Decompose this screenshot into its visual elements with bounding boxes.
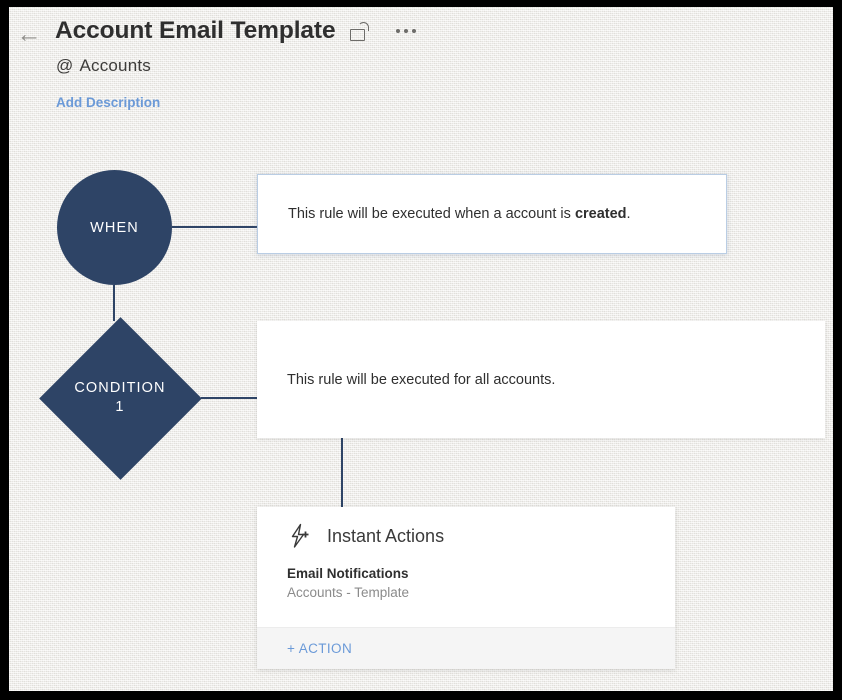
action-item-detail: Accounts - Template bbox=[287, 585, 645, 600]
instant-actions-bolt-icon bbox=[287, 523, 313, 549]
connector-condition-to-card bbox=[201, 397, 258, 399]
add-action-button[interactable]: + ACTION bbox=[287, 641, 352, 656]
when-text-prefix: This rule will be executed when a accoun… bbox=[288, 206, 575, 222]
connector-when-to-card bbox=[172, 226, 258, 228]
instant-actions-title: Instant Actions bbox=[327, 526, 444, 547]
list-item[interactable]: Email Notifications Accounts - Template bbox=[287, 566, 645, 600]
when-text-suffix: . bbox=[627, 206, 631, 222]
when-node[interactable]: WHEN bbox=[57, 170, 172, 285]
condition-criteria-card[interactable]: This rule will be executed for all accou… bbox=[257, 321, 825, 438]
connector-when-to-condition bbox=[113, 285, 115, 321]
connector-condition-to-actions bbox=[341, 438, 343, 507]
instant-actions-footer: + ACTION bbox=[257, 627, 675, 669]
when-text-bold: created bbox=[575, 206, 627, 222]
condition-node[interactable]: CONDITION 1 bbox=[39, 317, 201, 479]
when-criteria-card[interactable]: This rule will be executed when a accoun… bbox=[257, 174, 727, 254]
app-window: ← Account Email Template @Accounts Add D… bbox=[0, 0, 842, 700]
rule-flow: WHEN This rule will be executed when a a… bbox=[9, 7, 833, 691]
instant-actions-header: Instant Actions bbox=[287, 523, 645, 549]
when-criteria-text: This rule will be executed when a accoun… bbox=[288, 206, 631, 222]
action-item-name: Email Notifications bbox=[287, 566, 645, 581]
when-node-label: WHEN bbox=[90, 220, 139, 236]
condition-diamond-shape bbox=[39, 317, 202, 480]
instant-actions-card: Instant Actions Email Notifications Acco… bbox=[257, 507, 675, 669]
instant-actions-body: Instant Actions Email Notifications Acco… bbox=[257, 507, 675, 600]
workflow-canvas: ← Account Email Template @Accounts Add D… bbox=[9, 7, 833, 691]
condition-criteria-text: This rule will be executed for all accou… bbox=[287, 372, 555, 388]
